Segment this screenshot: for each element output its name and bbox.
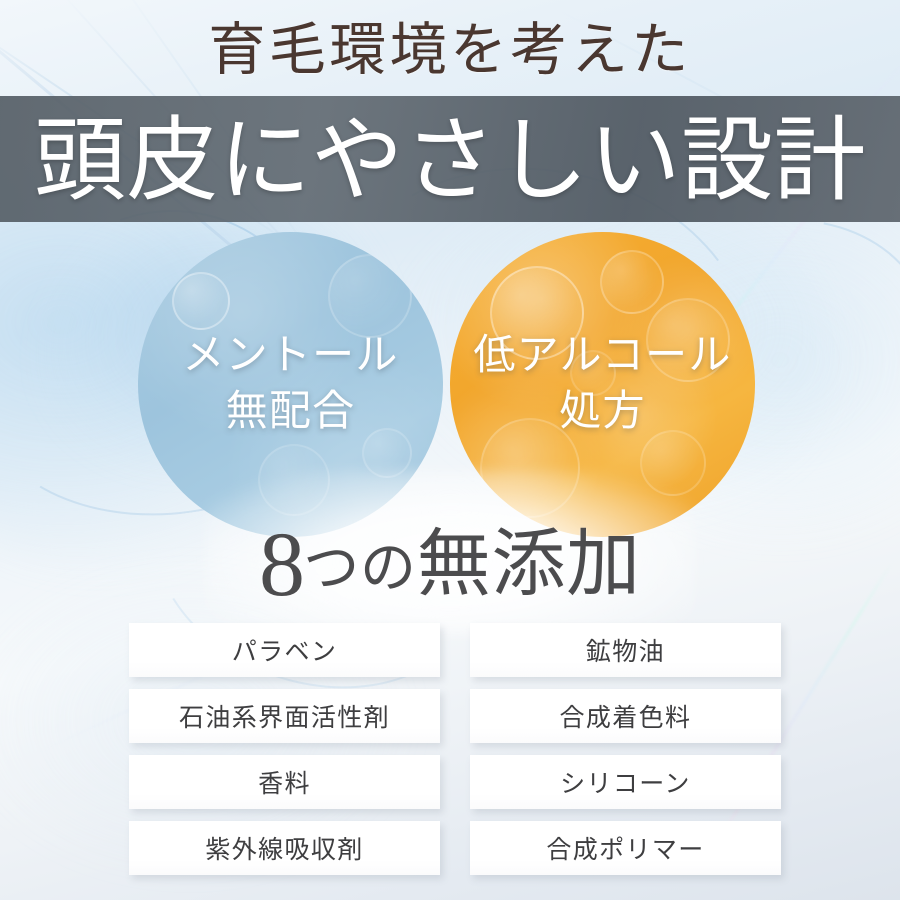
feature-line-1: メントール	[182, 329, 398, 384]
list-item: 合成着色料	[470, 689, 781, 743]
free-from-count: 8	[259, 513, 303, 615]
page-title: 頭皮にやさしい設計	[0, 98, 900, 224]
list-item: シリコーン	[470, 755, 781, 809]
list-item: 鉱物油	[470, 623, 781, 677]
eyebrow-text: 育毛環境を考えた	[0, 22, 900, 79]
list-item: 石油系界面活性剤	[129, 689, 440, 743]
free-from-list: パラベン 鉱物油 石油系界面活性剤 合成着色料 香料 シリコーン 紫外線吸収剤 …	[129, 623, 781, 875]
list-item: パラベン	[129, 623, 440, 677]
list-item: 香料	[129, 755, 440, 809]
list-item: 合成ポリマー	[470, 821, 781, 875]
feature-line-2: 処方	[559, 385, 646, 440]
list-item: 紫外線吸収剤	[129, 821, 440, 875]
bubble-decor-icon	[172, 272, 230, 330]
free-from-heading-tail: 無添加	[417, 524, 641, 606]
bubble-decor-icon	[600, 250, 664, 314]
promo-banner-canvas: 育毛環境を考えた 頭皮にやさしい設計 メントール 無配合 低アルコール 処方 8…	[0, 0, 900, 900]
free-from-heading: 8つの無添加	[0, 518, 900, 610]
free-from-counter-suffix: つの	[303, 538, 416, 600]
feature-line-1: 低アルコール	[473, 329, 731, 384]
feature-line-2: 無配合	[226, 385, 356, 440]
